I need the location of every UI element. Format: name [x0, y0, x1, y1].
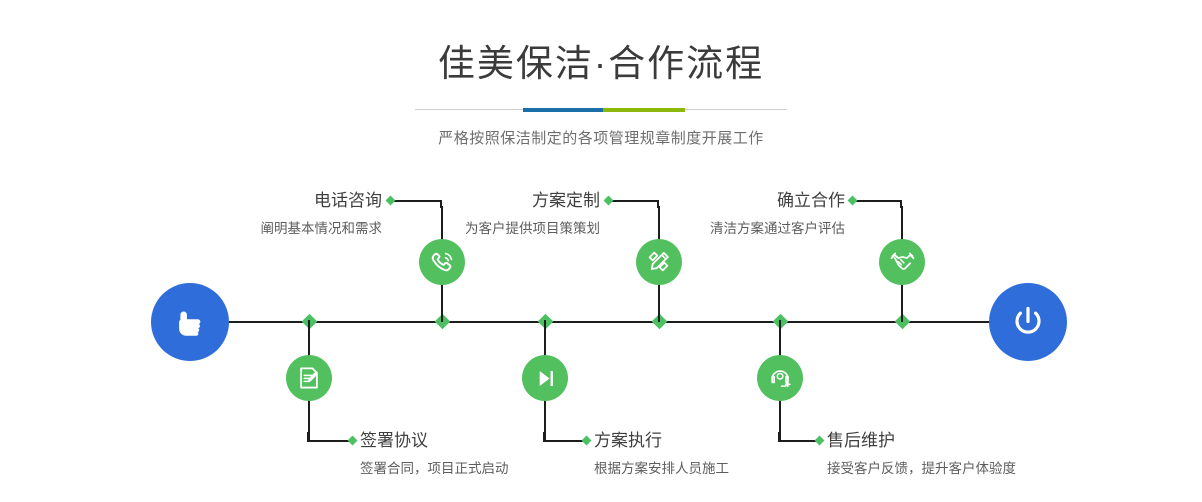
phone-call-icon — [429, 249, 456, 276]
step-label-6: 售后维护 接受客户反馈，提升客户体验度 — [827, 432, 1157, 476]
step-node-2[interactable] — [286, 355, 332, 401]
flow-start-node[interactable] — [151, 283, 229, 361]
header: 佳美保洁·合作流程 严格按照保洁制定的各项管理规章制度开展工作 — [0, 0, 1202, 148]
play-execute-icon — [533, 366, 558, 391]
step-title-5: 确立合作 — [575, 192, 845, 209]
pointing-hand-icon — [170, 302, 210, 342]
page-subtitle: 严格按照保洁制定的各项管理规章制度开展工作 — [0, 127, 1202, 148]
flow-diagram: 佳美保洁·合作流程 严格按照保洁制定的各项管理规章制度开展工作 — [0, 0, 1202, 502]
page-title: 佳美保洁·合作流程 — [0, 45, 1202, 82]
pencil-ruler-icon — [646, 249, 672, 275]
title-divider — [415, 106, 787, 114]
power-icon — [1007, 301, 1049, 343]
step-title-6: 售后维护 — [827, 432, 1157, 449]
divider-accent-green — [603, 108, 685, 112]
label-connector-5 — [854, 200, 902, 202]
label-bullet-5 — [848, 196, 858, 206]
flow-end-node[interactable] — [989, 283, 1067, 361]
step-node-3[interactable] — [636, 239, 682, 285]
step-desc-5: 清洁方案通过客户评估 — [575, 222, 845, 236]
step-node-4[interactable] — [522, 355, 568, 401]
headset-support-icon — [767, 365, 793, 391]
step-node-1[interactable] — [419, 239, 465, 285]
divider-accent-blue — [523, 108, 603, 112]
step-node-5[interactable] — [879, 239, 925, 285]
step-desc-6: 接受客户反馈，提升客户体验度 — [827, 462, 1157, 476]
label-bullet-2 — [348, 436, 358, 446]
step-label-3: 方案定制 为客户提供项目策策划 — [330, 192, 600, 236]
step-label-5: 确立合作 清洁方案通过客户评估 — [575, 192, 845, 236]
handshake-icon — [889, 249, 916, 276]
step-title-3: 方案定制 — [330, 192, 600, 209]
document-edit-icon — [296, 365, 322, 391]
label-corner-5 — [900, 200, 902, 208]
step-desc-3: 为客户提供项目策策划 — [330, 222, 600, 236]
step-node-6[interactable] — [757, 355, 803, 401]
